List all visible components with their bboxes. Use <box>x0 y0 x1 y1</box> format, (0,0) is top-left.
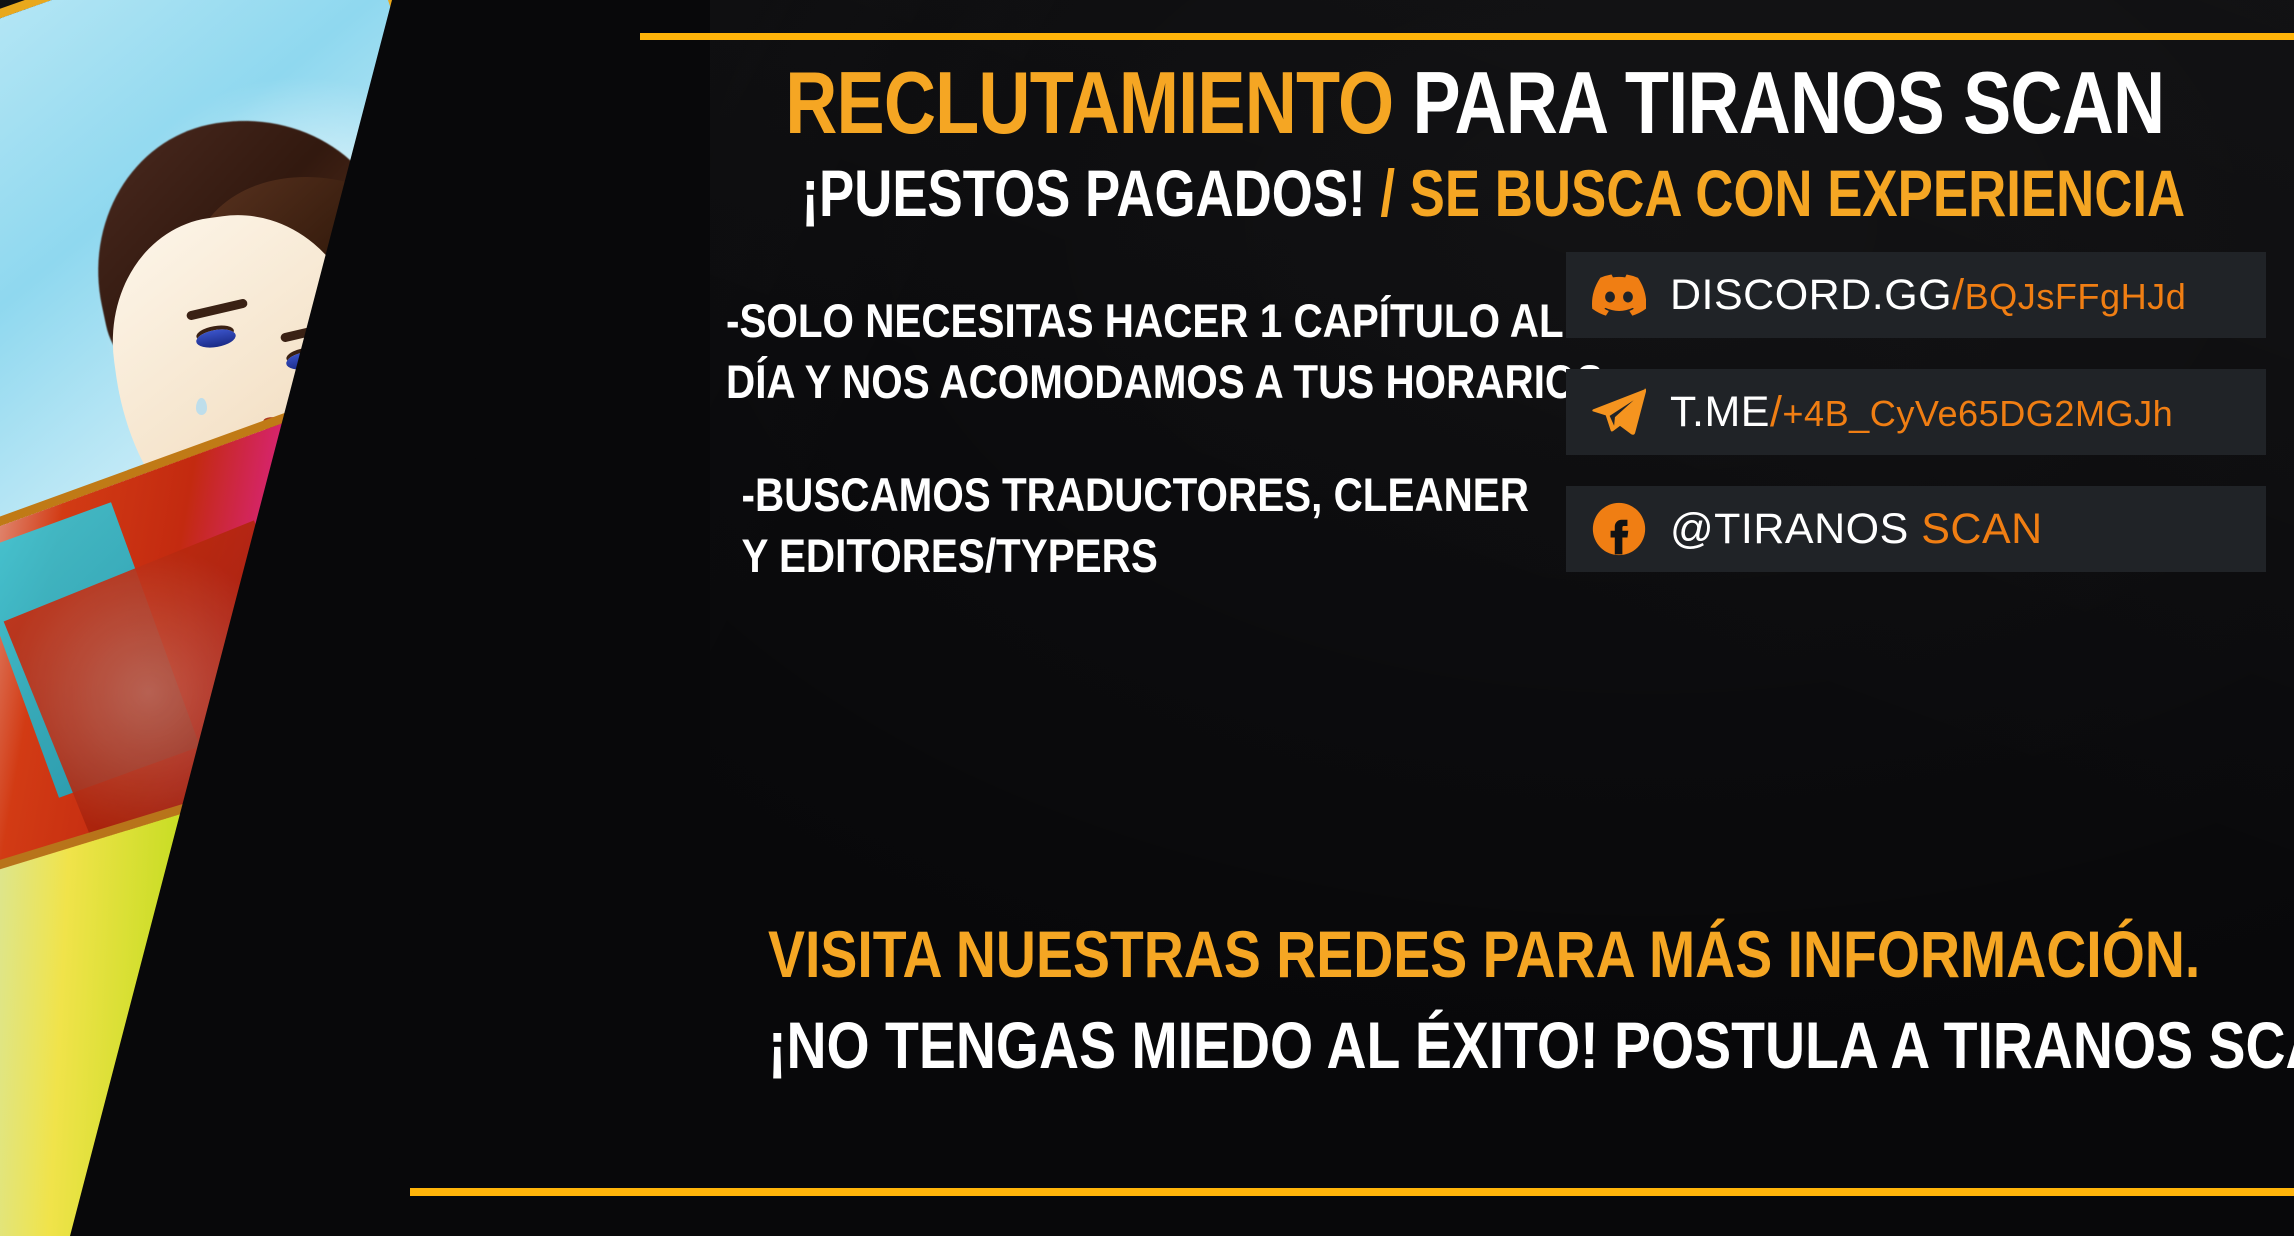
discord-domain: DISCORD.GG <box>1670 271 1952 319</box>
list-item: -SOLO NECESITAS HACER 1 CAPÍTULO AL DÍA … <box>726 290 1414 412</box>
facebook-handle-suffix: SCAN <box>1921 505 2042 553</box>
discord-invite-code: BQJsFFgHJd <box>1965 276 2187 317</box>
telegram-icon <box>1592 385 1646 439</box>
call-to-action: VISITA NUESTRAS REDES PARA MÁS INFORMACI… <box>640 920 2240 1081</box>
telegram-invite-code: +4B_CyVe65DG2MGJh <box>1782 393 2173 434</box>
recruitment-banner: RECLUTAMIENTO PARA TIRANOS SCAN ¡PUESTOS… <box>0 0 2294 1236</box>
cta-line-1: VISITA NUESTRAS REDES PARA MÁS INFORMACI… <box>768 920 2112 989</box>
facebook-separator <box>1909 505 1921 553</box>
facebook-label: @TIRANOS SCAN <box>1670 505 2043 554</box>
discord-separator: / <box>1952 271 1964 319</box>
telegram-label: T.ME/+4B_CyVe65DG2MGJh <box>1670 388 2173 437</box>
title-rest: PARA TIRANOS SCAN <box>1413 53 2165 152</box>
subtitle-experience: / SE BUSCA CON EXPERIENCIA <box>1380 156 2185 230</box>
discord-label: DISCORD.GG/BQJsFFgHJd <box>1670 271 2186 320</box>
telegram-separator: / <box>1770 388 1782 436</box>
telegram-domain: T.ME <box>1670 388 1770 436</box>
contact-cards: DISCORD.GG/BQJsFFgHJd T.ME/+4B_CyVe65DG2… <box>1566 252 2266 603</box>
discord-icon <box>1592 268 1646 322</box>
subtitle-paid: ¡PUESTOS PAGADOS! <box>801 156 1365 230</box>
telegram-contact-card[interactable]: T.ME/+4B_CyVe65DG2MGJh <box>1566 369 2266 455</box>
list-item: -BUSCAMOS TRADUCTORES, CLEANER Y EDITORE… <box>726 464 1414 586</box>
bullet-1-line-2: DÍA Y NOS ACOMODAMOS A TUS HORARIOS <box>726 351 1414 412</box>
page-title: RECLUTAMIENTO PARA TIRANOS SCAN <box>785 58 2108 148</box>
facebook-icon <box>1592 502 1646 556</box>
content-area: RECLUTAMIENTO PARA TIRANOS SCAN ¡PUESTOS… <box>640 0 2294 1236</box>
bullet-2-line-2: Y EDITORES/TYPERS <box>741 525 1414 586</box>
title-highlight: RECLUTAMIENTO <box>785 53 1393 152</box>
discord-contact-card[interactable]: DISCORD.GG/BQJsFFgHJd <box>1566 252 2266 338</box>
facebook-contact-card[interactable]: @TIRANOS SCAN <box>1566 486 2266 572</box>
subtitle: ¡PUESTOS PAGADOS! / SE BUSCA CON EXPERIE… <box>801 160 2092 227</box>
facebook-handle: @TIRANOS <box>1670 505 1909 553</box>
cta-line-2: ¡NO TENGAS MIEDO AL ÉXITO! POSTULA A TIR… <box>768 1011 2112 1080</box>
artwork-sweat-drop <box>196 398 207 415</box>
character-illustration <box>0 0 700 1236</box>
bullet-1-line-1: -SOLO NECESITAS HACER 1 CAPÍTULO AL <box>726 294 1564 347</box>
requirements-list: -SOLO NECESITAS HACER 1 CAPÍTULO AL DÍA … <box>726 290 1414 638</box>
bullet-2-line-1: -BUSCAMOS TRADUCTORES, CLEANER <box>741 468 1528 521</box>
